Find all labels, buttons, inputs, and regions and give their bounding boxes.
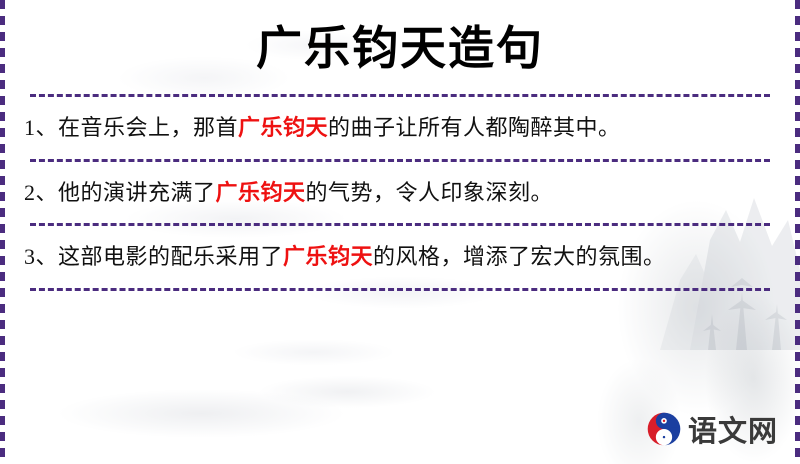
- content-area: 广乐钧天造句 1、在音乐会上，那首广乐钧天的曲子让所有人都陶醉其中。 2、他的演…: [0, 0, 800, 464]
- sentence-index-1: 1、: [24, 115, 58, 140]
- yinyang-circle-icon: [646, 411, 682, 447]
- sentence-before-3: 这部电影的配乐采用了: [58, 244, 283, 269]
- keyword-highlight-3: 广乐钧天: [283, 244, 373, 269]
- keyword-highlight-1: 广乐钧天: [238, 115, 328, 140]
- sentence-item-1: 1、在音乐会上，那首广乐钧天的曲子让所有人都陶醉其中。: [14, 97, 786, 159]
- sentence-after-2: 的气势，令人印象深刻。: [306, 180, 554, 205]
- sentence-after-1: 的曲子让所有人都陶醉其中。: [328, 115, 621, 140]
- sentence-before-2: 他的演讲充满了: [58, 180, 216, 205]
- site-logo[interactable]: 语文网: [646, 408, 778, 450]
- sentence-before-1: 在音乐会上，那首: [58, 115, 238, 140]
- sentence-item-3: 3、这部电影的配乐采用了广乐钧天的风格，增添了宏大的氛围。: [14, 226, 786, 288]
- keyword-highlight-2: 广乐钧天: [216, 180, 306, 205]
- sentence-after-3: 的风格，增添了宏大的氛围。: [373, 244, 666, 269]
- sentence-index-2: 2、: [24, 180, 58, 205]
- site-logo-text: 语文网: [688, 408, 778, 450]
- divider-4: [30, 288, 770, 291]
- sentence-index-3: 3、: [24, 244, 58, 269]
- sentence-item-2: 2、他的演讲充满了广乐钧天的气势，令人印象深刻。: [14, 162, 786, 224]
- sentence-page: 广乐钧天造句 1、在音乐会上，那首广乐钧天的曲子让所有人都陶醉其中。 2、他的演…: [0, 0, 800, 464]
- page-title: 广乐钧天造句: [14, 0, 786, 94]
